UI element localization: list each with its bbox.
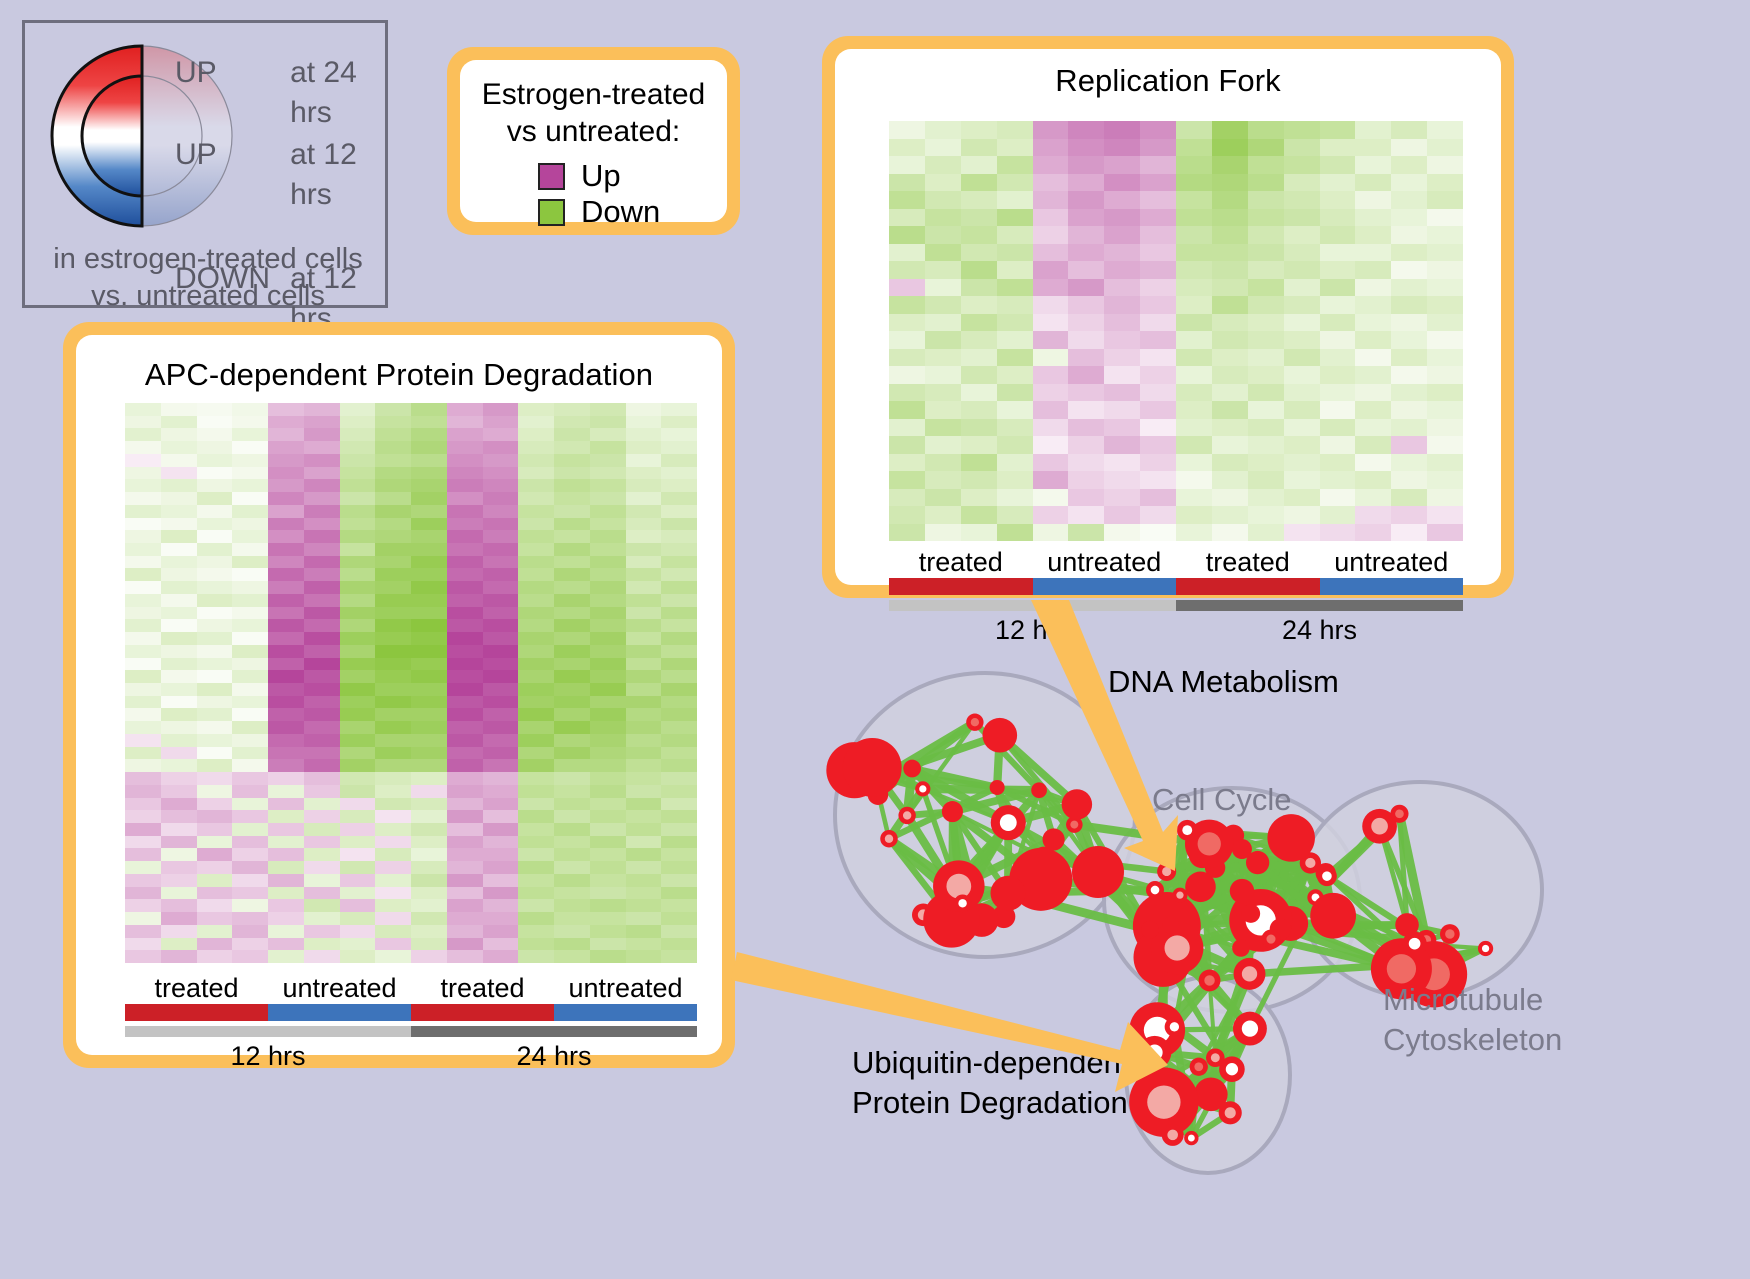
heatmap-cell [340, 874, 376, 887]
heatmap-cell [1355, 296, 1391, 314]
heatmap-cell [197, 581, 233, 594]
heatmap-cell [125, 938, 161, 951]
network-node [1300, 852, 1321, 873]
network-node-core [1038, 852, 1048, 862]
network-edge [1261, 920, 1402, 968]
network-edge [1291, 838, 1333, 916]
heatmap-cell [518, 721, 554, 734]
heatmap-cell [889, 174, 925, 192]
heatmap-cell [268, 658, 304, 671]
network-edge [1397, 925, 1407, 965]
heatmap-cell [661, 594, 697, 607]
heatmap-cell [1104, 436, 1140, 454]
network-edge [1163, 957, 1249, 974]
network-edge [1180, 895, 1250, 974]
network-edge [1209, 835, 1233, 843]
network-edge [1171, 925, 1210, 980]
network-edge [1041, 879, 1180, 895]
heatmap-cell [626, 823, 662, 836]
time-labels: 12 hrs 24 hrs [889, 615, 1463, 646]
heatmap-cell [626, 747, 662, 760]
heatmap-cell [197, 683, 233, 696]
heatmap-cell [483, 454, 519, 467]
heatmap-cell [1033, 296, 1069, 314]
network-edge [959, 886, 982, 920]
network-edge [1233, 835, 1310, 863]
heatmap-cell [340, 861, 376, 874]
heatmap-cell [961, 489, 997, 507]
heatmap-cell [232, 658, 268, 671]
heatmap-cell [626, 721, 662, 734]
heatmap-cell [1140, 261, 1176, 279]
network-edge [1167, 855, 1203, 872]
heatmap-cell [411, 594, 447, 607]
heatmap-cell [340, 823, 376, 836]
network-node-core [1182, 825, 1192, 835]
heatmap-cell [1033, 226, 1069, 244]
heatmap-cell [1355, 331, 1391, 349]
heatmap-cell [590, 467, 626, 480]
heatmap-cell [304, 632, 340, 645]
heatmap-cell [268, 899, 304, 912]
heatmap-cell [125, 734, 161, 747]
heatmap-cell [125, 505, 161, 518]
network-edge [1164, 1069, 1232, 1102]
network-edge [952, 903, 963, 919]
network-node-core [1242, 966, 1257, 981]
heatmap-cell [590, 619, 626, 632]
network-edge [1315, 876, 1326, 897]
heatmap-cell [483, 848, 519, 861]
network-edge [1232, 1029, 1250, 1070]
network-edge [872, 767, 912, 768]
heatmap-cell [518, 912, 554, 925]
heatmap-cell [340, 899, 376, 912]
heatmap-cell [1068, 401, 1104, 419]
network-node [990, 876, 1025, 911]
heatmap-cell [1033, 471, 1069, 489]
legend-items: Up Down [460, 159, 727, 229]
heatmap-cell [411, 683, 447, 696]
heatmap-cell [1068, 296, 1104, 314]
network-edge [1173, 1069, 1232, 1135]
heatmap-cell [889, 366, 925, 384]
heatmap-cell [125, 670, 161, 683]
heatmap-cell [1284, 174, 1320, 192]
network-edge [1167, 863, 1258, 872]
heatmap-cell [590, 772, 626, 785]
legend-item-down: Down [538, 195, 727, 229]
heatmap-cell [483, 861, 519, 874]
heatmap-cell [1104, 296, 1140, 314]
heatmap-cell [268, 810, 304, 823]
heatmap-cell [661, 772, 697, 785]
heatmap-cell [590, 848, 626, 861]
heatmap-cell [1355, 279, 1391, 297]
heatmap-cell [197, 950, 233, 963]
heatmap-cell [304, 747, 340, 760]
network-edge [1258, 863, 1281, 930]
heatmap-cell [304, 823, 340, 836]
heatmap-cell [411, 518, 447, 531]
network-edge [1280, 923, 1290, 929]
network-edge [1180, 830, 1187, 895]
heatmap-cell [554, 798, 590, 811]
heatmap-cell [661, 619, 697, 632]
heatmap-cell [161, 874, 197, 887]
network-edge [1261, 897, 1316, 920]
heatmap-cell [483, 403, 519, 416]
heatmap-cell [340, 645, 376, 658]
heatmap-cell [590, 887, 626, 900]
heatmap-cell [304, 759, 340, 772]
network-edge [1077, 804, 1098, 872]
network-edge [1187, 830, 1260, 920]
heatmap-cell [1033, 279, 1069, 297]
heatmap-cell [925, 384, 961, 402]
heatmap-cell [197, 467, 233, 480]
heatmap-cell [447, 708, 483, 721]
heatmap-cell [1320, 331, 1356, 349]
network-edge [1163, 868, 1215, 958]
heatmap-cell [889, 384, 925, 402]
network-edge [1043, 839, 1053, 857]
heatmap-cell [411, 556, 447, 569]
heatmap-cell [590, 823, 626, 836]
time-labels: 12 hrs 24 hrs [125, 1041, 697, 1072]
heatmap-cell [411, 747, 447, 760]
network-edge [1399, 814, 1426, 940]
network-edge [1150, 930, 1250, 1029]
network-node [1219, 1101, 1242, 1124]
heatmap-cell [340, 683, 376, 696]
network-edge [1421, 949, 1485, 961]
heatmap-cell [125, 708, 161, 721]
network-edge [1180, 895, 1241, 948]
heatmap-cell [268, 670, 304, 683]
heatmap-cell [925, 139, 961, 157]
heatmap-cell [447, 658, 483, 671]
network-node [912, 904, 935, 927]
heatmap-cell [661, 543, 697, 556]
heatmap-cell [340, 848, 376, 861]
network-edge [1209, 844, 1271, 939]
heatmap-cell [161, 403, 197, 416]
heatmap-cell [483, 721, 519, 734]
heatmap-cell [375, 543, 411, 556]
group-label: untreated [554, 973, 697, 1004]
heatmap-cell [889, 471, 925, 489]
heatmap-cell [1033, 384, 1069, 402]
network-edge [1180, 868, 1215, 895]
heatmap-cell [590, 899, 626, 912]
network-edge [1210, 948, 1241, 980]
heatmap-cell [304, 670, 340, 683]
heatmap-cell [197, 823, 233, 836]
heatmap-cell [232, 670, 268, 683]
network-edge [1150, 930, 1249, 974]
network-edge [1261, 920, 1331, 925]
network-edge [1008, 893, 1150, 929]
heatmap-cell [997, 261, 1033, 279]
heatmap-cell [661, 861, 697, 874]
network-edge [1397, 949, 1485, 966]
network-edge [1171, 855, 1203, 926]
heatmap-cell [232, 759, 268, 772]
heatmap-cell [483, 836, 519, 849]
heatmap-cell [304, 416, 340, 429]
heatmap-cell [661, 632, 697, 645]
heatmap-cell [1284, 314, 1320, 332]
heatmap-cell [1320, 349, 1356, 367]
network-edge [1327, 876, 1426, 940]
heatmap-cell [232, 505, 268, 518]
heatmap-cell [661, 581, 697, 594]
heatmap-cell [518, 658, 554, 671]
heatmap-cell [375, 950, 411, 963]
heatmap-cell [1284, 244, 1320, 262]
network-node-core [1165, 935, 1190, 960]
heatmap-cell [447, 619, 483, 632]
network-edge [1098, 872, 1177, 948]
heatmap-cell [1140, 489, 1176, 507]
heatmap-cell [411, 887, 447, 900]
heatmap-cell [661, 658, 697, 671]
heatmap-cell [268, 887, 304, 900]
heatmap-cell [1140, 331, 1176, 349]
heatmap-cell [1068, 244, 1104, 262]
heatmap-cell [590, 505, 626, 518]
heatmap-cell [1391, 419, 1427, 437]
heatmap-cell [626, 708, 662, 721]
network-node [1229, 889, 1292, 952]
heatmap-cell [447, 823, 483, 836]
network-edge [1151, 1088, 1164, 1102]
network-edge [1291, 838, 1310, 863]
heatmap-cell [483, 810, 519, 823]
network-node [1362, 809, 1397, 844]
heatmap-cell [125, 581, 161, 594]
network-node [1232, 939, 1250, 957]
network-edge [1008, 857, 1043, 893]
heatmap-cell [1427, 419, 1463, 437]
heatmap-cell [1140, 401, 1176, 419]
heatmap-cell [268, 861, 304, 874]
heatmap-cell [925, 401, 961, 419]
heatmap-cell [626, 607, 662, 620]
network-edge [1242, 891, 1333, 916]
heatmap-cell [590, 428, 626, 441]
heatmap-cell [590, 632, 626, 645]
heatmap-cell [1427, 331, 1463, 349]
heatmap-cell [925, 191, 961, 209]
heatmap-cell [889, 226, 925, 244]
network-node-core [1246, 905, 1276, 935]
network-node [1062, 789, 1092, 819]
network-edge [1043, 857, 1180, 895]
heatmap-cell [1391, 471, 1427, 489]
heatmap-cell [518, 696, 554, 709]
heatmap-cell [232, 848, 268, 861]
heatmap-cell [411, 607, 447, 620]
heatmap-cell [1355, 209, 1391, 227]
heatmap-cell [1140, 226, 1176, 244]
heatmap-cell [304, 518, 340, 531]
network-edge [1191, 1067, 1198, 1138]
heatmap-cell [1176, 314, 1212, 332]
network-edge [1326, 873, 1333, 916]
heatmap-cell [1033, 489, 1069, 507]
heatmap-cell [554, 938, 590, 951]
network-edge [1043, 804, 1076, 857]
heatmap-cell [232, 734, 268, 747]
heatmap-cell [1427, 296, 1463, 314]
heatmap-cell [554, 403, 590, 416]
network-node [1141, 921, 1159, 939]
heatmap-cell [304, 721, 340, 734]
heatmap-cell [447, 848, 483, 861]
heatmap-cell [375, 594, 411, 607]
network-edge [1233, 835, 1315, 897]
network-edge [907, 812, 952, 816]
heatmap-cell [1427, 384, 1463, 402]
heatmap-cell [554, 454, 590, 467]
heatmap-cell [1140, 244, 1176, 262]
heatmap-cell [1176, 261, 1212, 279]
heatmap-cell [626, 416, 662, 429]
heatmap-cell [340, 428, 376, 441]
network-edge [1271, 863, 1310, 939]
heatmap-cell [447, 632, 483, 645]
heatmap-cell [340, 836, 376, 849]
network-node [990, 780, 1005, 795]
heatmap-cell [411, 823, 447, 836]
heatmap-cell [590, 441, 626, 454]
heatmap-cell [483, 632, 519, 645]
network-edge [1250, 863, 1258, 974]
heatmap-cell [626, 658, 662, 671]
heatmap-cell [1320, 261, 1356, 279]
heatmap-cell [961, 156, 997, 174]
heatmap-cell [626, 619, 662, 632]
heatmap-cell [1391, 366, 1427, 384]
network-edge [1008, 890, 1155, 893]
heatmap-cell [661, 874, 697, 887]
network-edge [1008, 823, 1043, 857]
heatmap-cell [997, 401, 1033, 419]
heatmap-cell [447, 568, 483, 581]
network-node-core [1242, 1020, 1258, 1036]
heatmap-cell [925, 471, 961, 489]
network-node [1129, 1067, 1198, 1136]
heatmap-cell [232, 645, 268, 658]
heatmap-cell [997, 191, 1033, 209]
network-edge [1280, 925, 1407, 929]
heatmap-cell [590, 594, 626, 607]
heatmap-cell [1068, 506, 1104, 524]
heatmap-cell [232, 912, 268, 925]
heatmap-cell [961, 524, 997, 542]
network-edge [1241, 863, 1258, 948]
heatmap-cell [232, 887, 268, 900]
heatmap-cell [483, 645, 519, 658]
network-edge [872, 767, 889, 773]
group-bar-segment [125, 1004, 268, 1021]
heatmap-cell [1176, 279, 1212, 297]
network-node-core [1162, 867, 1171, 876]
heatmap-cell [1068, 174, 1104, 192]
network-edge [1261, 920, 1271, 939]
network-edge [1167, 895, 1180, 926]
heatmap-cell [483, 874, 519, 887]
heatmap-cell [125, 467, 161, 480]
heatmap-cell [268, 454, 304, 467]
network-edge [1202, 855, 1310, 863]
heatmap-cell [375, 708, 411, 721]
network-node [1177, 820, 1198, 841]
heatmap-cell [483, 798, 519, 811]
heatmap-cell [447, 492, 483, 505]
heatmap-cell [1033, 156, 1069, 174]
time-color-bar [125, 1026, 697, 1037]
heatmap-cell [925, 261, 961, 279]
heatmap-cell [626, 772, 662, 785]
heatmap-cell [590, 925, 626, 938]
network-node [1267, 814, 1315, 862]
network-node [1440, 924, 1460, 944]
network-node-core [1170, 1022, 1179, 1031]
heatmap-cell [1140, 156, 1176, 174]
network-node-core [1143, 1081, 1158, 1096]
heatmap-cell [411, 848, 447, 861]
heatmap-cell [411, 632, 447, 645]
key-state: UP [175, 53, 290, 93]
heatmap-cell [554, 772, 590, 785]
heatmap-cell [125, 632, 161, 645]
heatmap-cell [626, 848, 662, 861]
heatmap-cell [1176, 296, 1212, 314]
network-edge [923, 789, 963, 903]
heatmap-cell [483, 887, 519, 900]
heatmap-cell [1284, 331, 1320, 349]
heatmap-cell [340, 568, 376, 581]
heatmap-cell [447, 556, 483, 569]
heatmap-cell [447, 899, 483, 912]
heatmap-cell [626, 492, 662, 505]
heatmap-cell [1068, 156, 1104, 174]
heatmap-cell [197, 938, 233, 951]
heatmap-cell [411, 416, 447, 429]
heatmap-cell [518, 747, 554, 760]
heatmap-cell [411, 861, 447, 874]
heatmap-cell [1284, 226, 1320, 244]
heatmap-cell [590, 479, 626, 492]
network-edge [1310, 863, 1315, 897]
heatmap-cell [1104, 454, 1140, 472]
heatmap-cell [1284, 191, 1320, 209]
heatmap-cell [661, 568, 697, 581]
network-edge [1171, 920, 1261, 925]
heatmap-cell [1355, 226, 1391, 244]
network-node [1219, 1056, 1245, 1082]
heatmap-cell [1212, 314, 1248, 332]
heatmap-cell [161, 518, 197, 531]
heatmap-cell [411, 581, 447, 594]
heatmap-cell [961, 209, 997, 227]
heatmap-cell [518, 734, 554, 747]
heatmap-cell [483, 619, 519, 632]
network-edge [1155, 890, 1171, 925]
